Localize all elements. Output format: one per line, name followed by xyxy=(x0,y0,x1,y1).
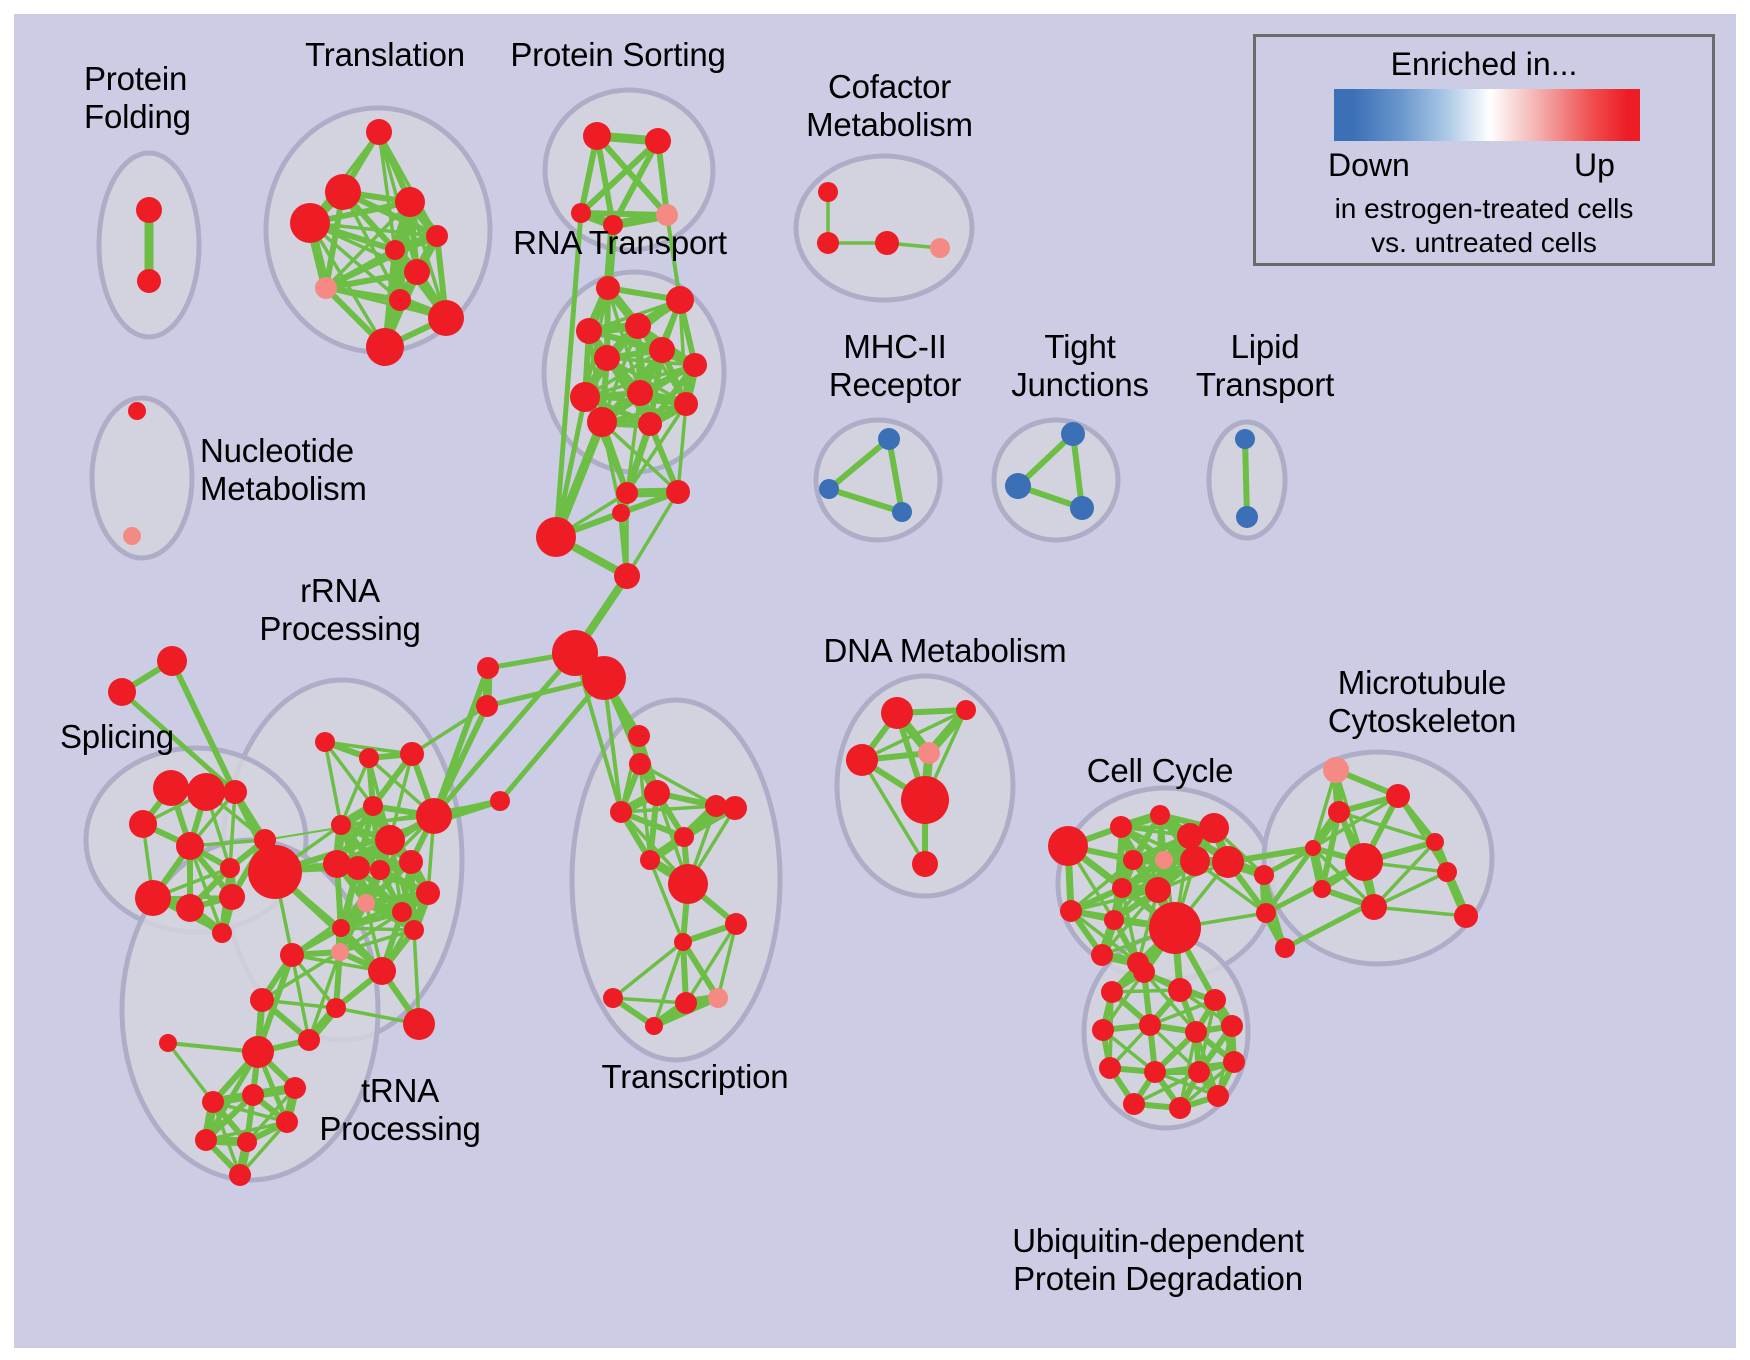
network-node[interactable] xyxy=(1155,851,1173,869)
network-node[interactable] xyxy=(674,933,692,951)
network-node[interactable] xyxy=(1104,910,1124,930)
network-node[interactable] xyxy=(1099,1057,1121,1079)
cluster-label-protein-sorting: Protein Sorting xyxy=(488,36,748,74)
network-node[interactable] xyxy=(331,943,349,961)
network-node[interactable] xyxy=(912,851,938,877)
legend-subtitle-line-2: vs. untreated cells xyxy=(1371,227,1597,258)
network-node[interactable] xyxy=(1169,1097,1191,1119)
network-node[interactable] xyxy=(176,894,204,922)
network-node[interactable] xyxy=(176,832,204,860)
network-edge xyxy=(627,492,678,576)
network-node[interactable] xyxy=(1101,981,1123,1003)
network-node[interactable] xyxy=(818,182,838,202)
network-node[interactable] xyxy=(404,259,430,285)
network-node[interactable] xyxy=(129,810,157,838)
network-node[interactable] xyxy=(416,881,440,905)
network-node[interactable] xyxy=(123,527,141,545)
network-node[interactable] xyxy=(1212,846,1244,878)
network-node[interactable] xyxy=(846,744,878,776)
network-node[interactable] xyxy=(280,943,304,967)
network-node[interactable] xyxy=(644,780,670,806)
network-node[interactable] xyxy=(392,902,412,922)
network-node[interactable] xyxy=(1060,900,1082,922)
network-node[interactable] xyxy=(476,695,498,717)
network-node[interactable] xyxy=(400,742,424,766)
network-node[interactable] xyxy=(1061,422,1085,446)
network-node[interactable] xyxy=(1005,473,1031,499)
cluster-label-tight-junctions: Tight Junctions xyxy=(975,328,1185,404)
network-node[interactable] xyxy=(1091,944,1113,966)
network-node[interactable] xyxy=(1112,878,1132,898)
cluster-label-cell-cycle: Cell Cycle xyxy=(1050,752,1270,790)
network-node[interactable] xyxy=(242,1036,274,1068)
network-node[interactable] xyxy=(331,815,351,835)
network-node[interactable] xyxy=(315,277,337,299)
network-node[interactable] xyxy=(315,732,335,752)
network-node[interactable] xyxy=(159,1034,177,1052)
network-node[interactable] xyxy=(1092,1019,1114,1041)
network-node[interactable] xyxy=(187,773,225,811)
network-node[interactable] xyxy=(1305,840,1321,856)
network-node[interactable] xyxy=(370,860,390,880)
network-node[interactable] xyxy=(628,725,650,747)
network-node[interactable] xyxy=(616,482,638,504)
network-node[interactable] xyxy=(346,856,370,880)
network-node[interactable] xyxy=(325,174,361,210)
cluster-label-rrna-processing: rRNA Processing xyxy=(230,572,450,648)
network-node[interactable] xyxy=(892,502,912,522)
network-node[interactable] xyxy=(357,894,375,912)
network-node[interactable] xyxy=(1328,801,1350,823)
network-node[interactable] xyxy=(368,957,396,985)
network-node[interactable] xyxy=(638,412,662,436)
cluster-label-lipid-transport: Lipid Transport xyxy=(1160,328,1370,404)
network-node[interactable] xyxy=(1386,784,1410,808)
cluster-label-transcription: Transcription xyxy=(565,1058,825,1096)
network-node[interactable] xyxy=(290,203,330,243)
network-node[interactable] xyxy=(385,240,405,260)
network-node[interactable] xyxy=(645,128,671,154)
network-node[interactable] xyxy=(536,517,576,557)
network-node[interactable] xyxy=(428,300,464,336)
cluster-label-mhc-ii-receptor: MHC-II Receptor xyxy=(790,328,1000,404)
network-node[interactable] xyxy=(220,858,240,878)
network-node[interactable] xyxy=(645,1017,663,1035)
network-node[interactable] xyxy=(1454,904,1478,928)
legend-color-scale xyxy=(1334,89,1640,141)
network-node[interactable] xyxy=(128,402,146,420)
network-node[interactable] xyxy=(674,392,698,416)
network-node[interactable] xyxy=(1207,1085,1229,1107)
network-node[interactable] xyxy=(1254,865,1274,885)
network-node[interactable] xyxy=(610,801,632,823)
network-node[interactable] xyxy=(136,197,162,223)
network-node[interactable] xyxy=(666,480,690,504)
network-node[interactable] xyxy=(918,742,940,764)
network-node[interactable] xyxy=(1223,1051,1245,1073)
network-node[interactable] xyxy=(1070,496,1094,520)
network-node[interactable] xyxy=(1144,1061,1166,1083)
network-node[interactable] xyxy=(1133,961,1155,983)
network-node[interactable] xyxy=(242,1084,264,1106)
network-node[interactable] xyxy=(571,203,591,223)
network-node[interactable] xyxy=(399,850,423,874)
network-node[interactable] xyxy=(603,988,623,1008)
cluster-label-dna-metabolism: DNA Metabolism xyxy=(810,632,1080,670)
network-edge xyxy=(1245,439,1247,517)
cluster-ellipse-cofactor-metabolism[interactable] xyxy=(796,156,972,300)
network-node[interactable] xyxy=(1145,877,1171,903)
network-node[interactable] xyxy=(1221,1015,1243,1037)
cluster-label-ubiquitin-degradation: Ubiquitin-dependent Protein Degradation xyxy=(978,1222,1338,1298)
network-node[interactable] xyxy=(366,328,404,366)
network-node[interactable] xyxy=(723,796,747,820)
network-node[interactable] xyxy=(587,407,617,437)
network-node[interactable] xyxy=(1180,846,1210,876)
network-node[interactable] xyxy=(1361,894,1387,920)
network-node[interactable] xyxy=(1204,989,1226,1011)
network-node[interactable] xyxy=(202,1091,224,1113)
network-node[interactable] xyxy=(819,479,839,499)
network-node[interactable] xyxy=(675,992,697,1014)
network-node[interactable] xyxy=(627,380,653,406)
network-node[interactable] xyxy=(817,232,839,254)
network-node[interactable] xyxy=(426,225,448,247)
network-node[interactable] xyxy=(683,353,707,377)
network-node[interactable] xyxy=(1235,429,1255,449)
legend-high-label: Up xyxy=(1574,147,1615,184)
legend-low-label: Down xyxy=(1328,147,1410,184)
network-node[interactable] xyxy=(237,1132,257,1152)
network-node[interactable] xyxy=(582,656,626,700)
network-node[interactable] xyxy=(614,563,640,589)
network-node[interactable] xyxy=(649,337,675,363)
network-node[interactable] xyxy=(363,796,383,816)
cluster-label-protein-folding: Protein Folding xyxy=(84,60,274,136)
network-node[interactable] xyxy=(596,276,620,300)
cluster-label-splicing: Splicing xyxy=(60,718,230,756)
network-node[interactable] xyxy=(298,1029,320,1051)
network-node[interactable] xyxy=(135,880,171,916)
cluster-label-trna-processing: tRNA Processing xyxy=(290,1072,510,1148)
network-node[interactable] xyxy=(250,988,274,1012)
network-node[interactable] xyxy=(1275,938,1295,958)
network-node[interactable] xyxy=(570,382,600,412)
network-node[interactable] xyxy=(248,845,302,899)
network-node[interactable] xyxy=(404,920,424,940)
network-node[interactable] xyxy=(1199,813,1229,843)
network-node[interactable] xyxy=(612,504,630,522)
network-node[interactable] xyxy=(629,753,651,775)
network-node[interactable] xyxy=(881,697,913,729)
cluster-ellipse-nucleotide-metabolism[interactable] xyxy=(92,398,192,558)
network-node[interactable] xyxy=(223,780,247,804)
network-node[interactable] xyxy=(878,428,900,450)
cluster-label-translation: Translation xyxy=(270,36,500,74)
network-node[interactable] xyxy=(1236,506,1258,528)
network-node[interactable] xyxy=(219,884,245,910)
network-node[interactable] xyxy=(403,1008,435,1040)
network-node[interactable] xyxy=(229,1164,251,1186)
network-node[interactable] xyxy=(1048,826,1088,866)
network-node[interactable] xyxy=(656,204,678,226)
network-node[interactable] xyxy=(1313,880,1331,898)
network-node[interactable] xyxy=(1185,1021,1207,1043)
network-node[interactable] xyxy=(395,187,425,217)
network-node[interactable] xyxy=(1123,850,1143,870)
network-node[interactable] xyxy=(1139,1014,1161,1036)
network-node[interactable] xyxy=(594,345,620,371)
network-node[interactable] xyxy=(576,318,602,344)
network-node[interactable] xyxy=(625,313,651,339)
network-node[interactable] xyxy=(668,864,708,904)
network-node[interactable] xyxy=(389,289,411,311)
network-node[interactable] xyxy=(477,657,499,679)
network-node[interactable] xyxy=(1188,1061,1210,1083)
network-node[interactable] xyxy=(326,998,346,1018)
network-edge xyxy=(341,928,414,930)
network-node[interactable] xyxy=(375,825,405,855)
network-node[interactable] xyxy=(212,923,232,943)
network-node[interactable] xyxy=(1345,843,1383,881)
network-node[interactable] xyxy=(195,1129,217,1151)
network-node[interactable] xyxy=(930,238,950,258)
network-node[interactable] xyxy=(875,231,899,255)
network-node[interactable] xyxy=(901,776,949,824)
legend-title: Enriched in... xyxy=(1256,46,1712,83)
network-node[interactable] xyxy=(1256,903,1276,923)
cluster-label-nucleotide-metabolism: Nucleotide Metabolism xyxy=(200,432,460,508)
network-node[interactable] xyxy=(1426,833,1444,851)
network-node[interactable] xyxy=(1149,902,1201,954)
network-node[interactable] xyxy=(640,850,660,870)
network-node[interactable] xyxy=(725,913,747,935)
network-node[interactable] xyxy=(359,748,379,768)
cluster-label-rna-transport: RNA Transport xyxy=(490,224,750,262)
network-node[interactable] xyxy=(1150,805,1170,825)
cluster-ellipse-mhc-ii-receptor[interactable] xyxy=(816,420,940,540)
network-node[interactable] xyxy=(153,770,189,806)
legend-subtitle: in estrogen-treated cellsvs. untreated c… xyxy=(1256,192,1712,260)
legend-subtitle-line-1: in estrogen-treated cells xyxy=(1335,193,1634,224)
network-node[interactable] xyxy=(666,286,694,314)
network-node[interactable] xyxy=(1168,978,1192,1002)
network-node[interactable] xyxy=(157,646,187,676)
enrichment-map-figure: Protein FoldingTranslationProtein Sortin… xyxy=(0,0,1750,1360)
network-node[interactable] xyxy=(490,791,510,811)
cluster-label-cofactor-metabolism: Cofactor Metabolism xyxy=(772,68,1007,144)
network-node[interactable] xyxy=(1123,1093,1145,1115)
network-node[interactable] xyxy=(583,122,611,150)
network-node[interactable] xyxy=(674,827,694,847)
network-node[interactable] xyxy=(108,678,136,706)
network-node[interactable] xyxy=(956,700,976,720)
network-node[interactable] xyxy=(1110,816,1132,838)
network-node[interactable] xyxy=(366,119,392,145)
legend-panel: Enriched in... Down Up in estrogen-treat… xyxy=(1253,34,1715,266)
network-node[interactable] xyxy=(1437,862,1457,882)
network-node[interactable] xyxy=(137,269,161,293)
network-node[interactable] xyxy=(1323,757,1349,783)
network-node[interactable] xyxy=(332,919,350,937)
cluster-label-microtubule-cytoskeleton: Microtubule Cytoskeleton xyxy=(1272,664,1572,740)
network-node[interactable] xyxy=(708,988,728,1008)
network-node[interactable] xyxy=(416,798,452,834)
